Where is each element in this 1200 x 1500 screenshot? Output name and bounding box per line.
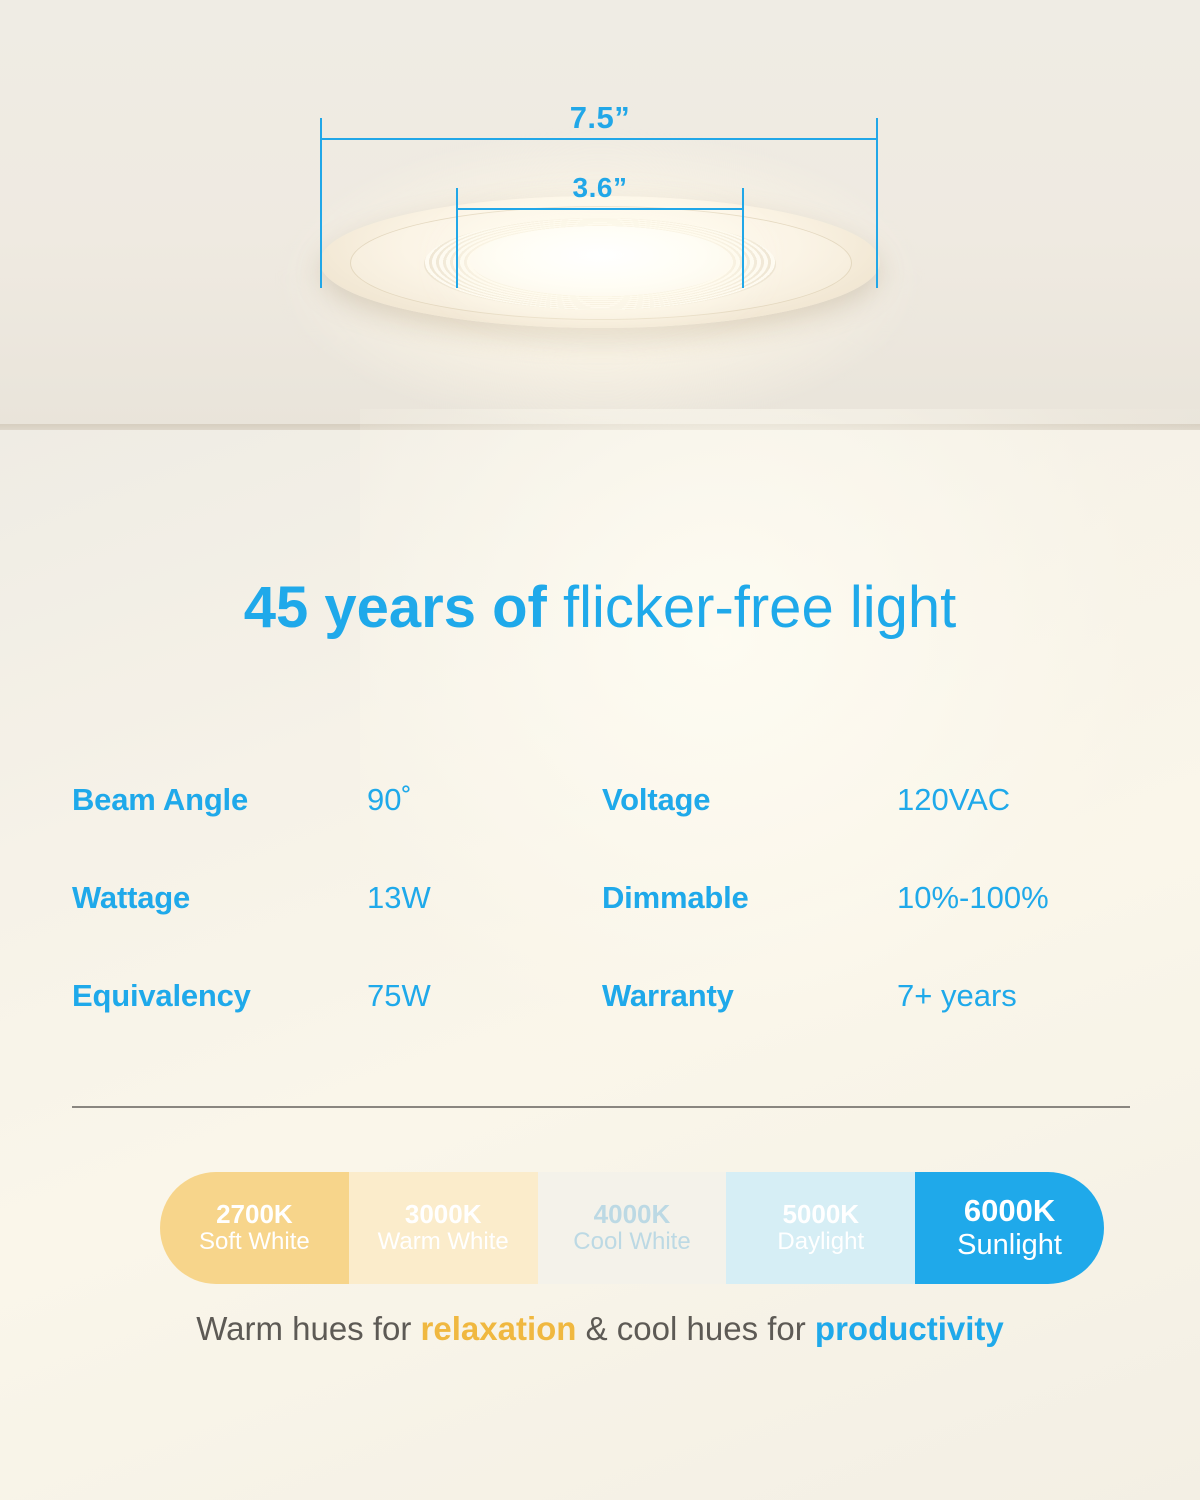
spec-key: Dimmable <box>602 880 897 916</box>
downlight-fixture <box>320 196 880 346</box>
spec-value: 75W <box>367 978 431 1014</box>
page-headline: 45 years of flicker-free light <box>0 578 1200 639</box>
product-hero-image: 7.5” 3.6” <box>0 0 1200 430</box>
spec-row: Wattage 13W Dimmable 10%-100% <box>72 880 1132 916</box>
headline-bold: 45 years of <box>244 575 547 640</box>
tagline-part1: Warm hues for <box>196 1310 420 1347</box>
spec-value: 13W <box>367 880 431 916</box>
spec-row: Equivalency 75W Warranty 7+ years <box>72 978 1132 1014</box>
cct-name: Soft White <box>199 1229 310 1256</box>
color-temperature-selector[interactable]: 2700K Soft White 3000K Warm White 4000K … <box>160 1172 1104 1284</box>
inner-dimension-right-tick <box>742 188 744 288</box>
fixture-lens <box>470 226 732 296</box>
cct-option-5000k[interactable]: 5000K Daylight <box>726 1172 915 1284</box>
inner-dimension-left-tick <box>456 188 458 288</box>
cct-option-3000k[interactable]: 3000K Warm White <box>349 1172 538 1284</box>
cct-name: Daylight <box>777 1229 864 1256</box>
tagline-part2: & cool hues for <box>576 1310 814 1347</box>
cct-kelvin: 5000K <box>782 1200 859 1229</box>
cct-option-6000k-selected[interactable]: 6000K Sunlight <box>915 1172 1104 1284</box>
cct-kelvin: 6000K <box>964 1194 1055 1229</box>
inner-dimension-label: 3.6” <box>524 172 676 204</box>
spec-key: Equivalency <box>72 978 367 1014</box>
spec-value: 7+ years <box>897 978 1017 1014</box>
outer-dimension-right-tick <box>876 118 878 288</box>
spec-value: 10%-100% <box>897 880 1049 916</box>
spec-key: Warranty <box>602 978 897 1014</box>
spec-table: Beam Angle 90˚ Voltage 120VAC Wattage 13… <box>72 782 1132 1076</box>
tagline-warm-word: relaxation <box>421 1310 577 1347</box>
cct-tagline: Warm hues for relaxation & cool hues for… <box>0 1310 1200 1348</box>
spec-warranty: Warranty 7+ years <box>602 978 1132 1014</box>
outer-dimension-label: 7.5” <box>520 100 680 136</box>
cct-name: Cool White <box>573 1229 690 1256</box>
spec-voltage: Voltage 120VAC <box>602 782 1132 818</box>
spec-row: Beam Angle 90˚ Voltage 120VAC <box>72 782 1132 818</box>
cct-kelvin: 4000K <box>594 1200 671 1229</box>
cct-option-4000k[interactable]: 4000K Cool White <box>538 1172 727 1284</box>
spec-equivalency: Equivalency 75W <box>72 978 602 1014</box>
cct-name: Warm White <box>378 1229 509 1256</box>
spec-value: 90˚ <box>367 782 412 818</box>
spec-value: 120VAC <box>897 782 1010 818</box>
cct-name: Sunlight <box>957 1229 1062 1261</box>
tagline-cool-word: productivity <box>815 1310 1004 1347</box>
specifications-panel: 45 years of flicker-free light Beam Angl… <box>0 430 1200 1500</box>
product-infographic-page: 7.5” 3.6” 45 years of flicker-free light… <box>0 0 1200 1500</box>
cct-kelvin: 3000K <box>405 1200 482 1229</box>
headline-light: flicker-free light <box>563 575 956 640</box>
spec-key: Voltage <box>602 782 897 818</box>
spec-dimmable: Dimmable 10%-100% <box>602 880 1132 916</box>
outer-dimension-left-tick <box>320 118 322 288</box>
cct-option-2700k[interactable]: 2700K Soft White <box>160 1172 349 1284</box>
cct-kelvin: 2700K <box>216 1200 293 1229</box>
spec-key: Beam Angle <box>72 782 367 818</box>
inner-dimension-line <box>456 208 744 210</box>
outer-dimension-line <box>320 138 878 140</box>
spec-key: Wattage <box>72 880 367 916</box>
spec-beam-angle: Beam Angle 90˚ <box>72 782 602 818</box>
spec-wattage: Wattage 13W <box>72 880 602 916</box>
section-divider <box>72 1106 1130 1108</box>
